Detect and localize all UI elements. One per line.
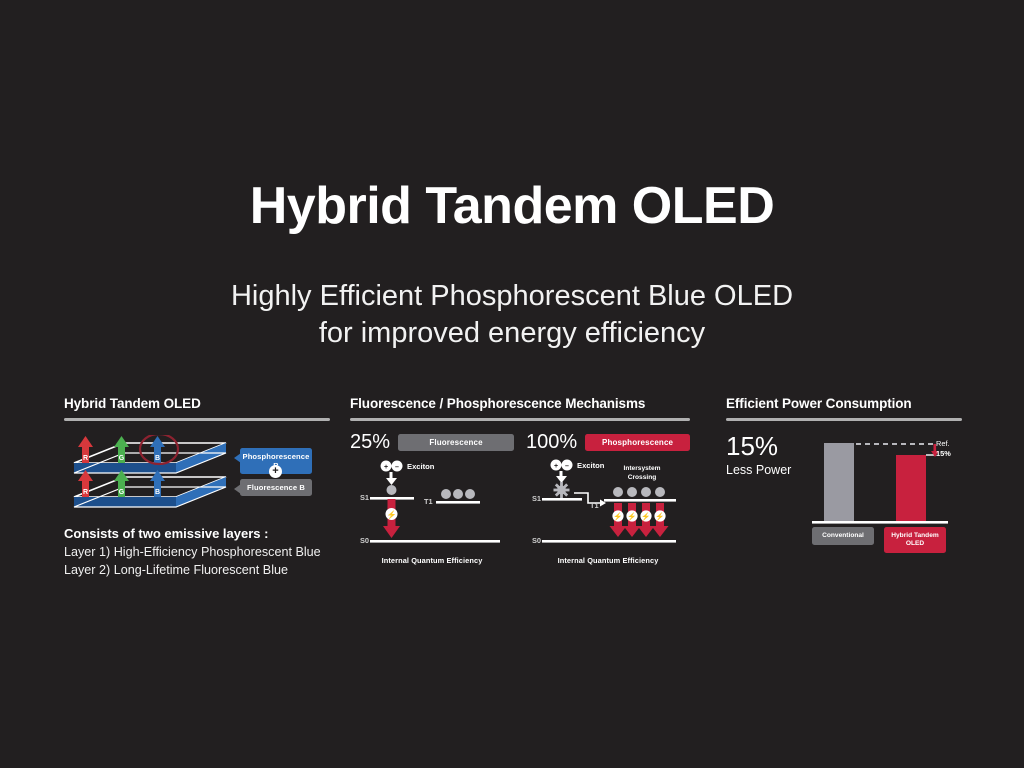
svg-text:T1: T1	[424, 497, 433, 506]
svg-text:G: G	[119, 489, 125, 496]
svg-text:⚡: ⚡	[641, 512, 650, 521]
body-layer-1: Layer 1) High-Efficiency Phosphorescent …	[64, 544, 330, 562]
svg-text:⚡: ⚡	[613, 512, 622, 521]
panel-left-body: Consists of two emissive layers : Layer …	[64, 526, 330, 580]
svg-text:T1: T1	[590, 501, 599, 510]
svg-text:R: R	[83, 455, 88, 462]
slide-root: Hybrid Tandem OLED Highly Efficient Phos…	[0, 0, 1024, 768]
svg-text:⚡: ⚡	[387, 510, 397, 520]
reference-annotation: Ref. 15%	[936, 439, 951, 459]
svg-text:–: –	[565, 463, 569, 470]
svg-text:–: –	[395, 464, 399, 471]
svg-text:R: R	[83, 489, 88, 496]
page-subtitle: Highly Efficient Phosphorescent Blue OLE…	[0, 278, 1024, 352]
svg-text:⚡: ⚡	[655, 512, 664, 521]
panel-power-consumption: Efficient Power Consumption 15% Less Pow…	[726, 396, 962, 545]
panel-hybrid-tandem-oled: Hybrid Tandem OLED R	[64, 396, 330, 580]
subtitle-line-1: Highly Efficient Phosphorescent Blue OLE…	[231, 280, 793, 312]
svg-text:+: +	[384, 464, 388, 471]
phosphorescence-mechanism: 100% Phosphorescence + – Exciton	[526, 432, 690, 565]
svg-text:Crossing: Crossing	[628, 474, 657, 481]
panel-left-title: Hybrid Tandem OLED	[64, 396, 330, 411]
svg-text:G: G	[119, 455, 125, 462]
badge-phosphorescence: Phosphorescence	[585, 434, 690, 451]
tag-fluorescence-b: Fluorescence B	[240, 479, 312, 496]
panel-right-divider	[726, 418, 962, 421]
fluorescence-footer: Internal Quantum Efficiency	[350, 556, 514, 565]
svg-text:Exciton: Exciton	[407, 462, 435, 471]
panel-mid-divider	[350, 418, 690, 421]
power-sublabel: Less Power	[726, 463, 808, 477]
panel-right-title: Efficient Power Consumption	[726, 396, 962, 411]
bar-hybrid-tandem	[896, 455, 926, 521]
bar-label-hybrid-tandem: Hybrid Tandem OLED	[884, 527, 946, 553]
bar-label-hybrid-line1: Hybrid Tandem	[891, 532, 939, 539]
svg-text:Exciton: Exciton	[577, 461, 605, 470]
svg-text:⚡: ⚡	[627, 512, 636, 521]
power-percent: 15%	[726, 433, 808, 459]
panel-left-divider	[64, 418, 330, 421]
badge-fluorescence: Fluorescence	[398, 434, 514, 451]
oled-stack-diagram: R G B R	[64, 435, 236, 523]
phosphorescence-footer: Internal Quantum Efficiency	[526, 556, 690, 565]
body-heading: Consists of two emissive layers :	[64, 526, 330, 541]
ref-label: Ref.	[936, 439, 950, 448]
subtitle-line-2: for improved energy efficiency	[0, 315, 1024, 352]
panel-mechanisms: Fluorescence / Phosphorescence Mechanism…	[350, 396, 690, 565]
svg-text:S1: S1	[360, 493, 369, 502]
body-layer-2: Layer 2) Long-Lifetime Fluorescent Blue	[64, 562, 330, 580]
svg-text:S0: S0	[532, 536, 541, 545]
bar-label-hybrid-line2: OLED	[906, 540, 924, 547]
power-stat: 15% Less Power	[726, 433, 808, 545]
plus-icon: +	[269, 465, 282, 478]
svg-text:B: B	[155, 455, 160, 462]
fluorescence-jablonski-diagram: + – Exciton S1	[350, 458, 514, 554]
panel-mid-title: Fluorescence / Phosphorescence Mechanism…	[350, 396, 690, 411]
fluorescence-percent: 25%	[350, 432, 390, 452]
bar-label-conventional: Conventional	[812, 527, 874, 545]
svg-text:Intersystem: Intersystem	[623, 465, 660, 472]
page-title: Hybrid Tandem OLED	[0, 176, 1024, 236]
svg-text:B: B	[155, 489, 160, 496]
svg-text:S1: S1	[532, 494, 541, 503]
phosphorescence-jablonski-diagram: + – Exciton	[526, 458, 690, 554]
power-bar-chart: Ref. 15% Conventional Hybrid Tandem OLED	[808, 433, 960, 545]
fluorescence-mechanism: 25% Fluorescence + – Exciton	[350, 432, 514, 565]
oled-stack-graphic: R G B R	[64, 435, 330, 520]
phosphorescence-percent: 100%	[526, 432, 577, 452]
bar-conventional	[824, 443, 854, 521]
svg-text:S0: S0	[360, 536, 369, 545]
svg-text:+: +	[554, 463, 558, 470]
ref-value: 15%	[936, 449, 951, 458]
